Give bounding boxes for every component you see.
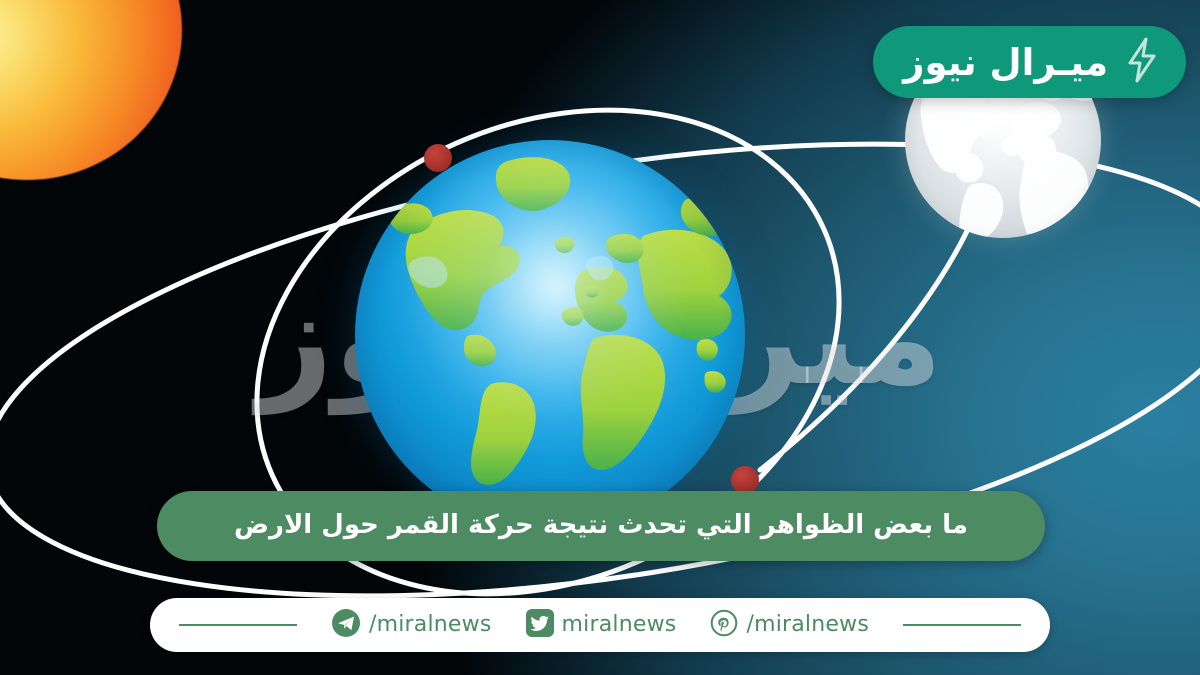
brand-logo-badge[interactable]: ميـرال نيوز: [873, 26, 1186, 98]
pinterest-handle: /miralnews: [746, 614, 869, 636]
headline-banner: ما بعض الظواهر التي تحدث نتيجة حركة القم…: [157, 491, 1045, 561]
telegram-icon: [331, 608, 361, 642]
social-bar: /miralnews miralnews: [150, 598, 1050, 652]
orbit-marker-dot: [731, 466, 759, 494]
social-link-twitter[interactable]: miralnews: [526, 609, 677, 641]
page-title: ما بعض الظواهر التي تحدث نتيجة حركة القم…: [208, 510, 994, 541]
divider-left: [179, 624, 297, 626]
twitter-icon: [526, 609, 554, 641]
telegram-handle: /miralnews: [369, 614, 492, 636]
earth-globe-icon: [355, 140, 745, 530]
divider-right: [903, 624, 1021, 626]
social-link-pinterest[interactable]: /miralnews: [710, 609, 869, 641]
orbit-marker-dot: [424, 144, 452, 172]
social-link-telegram[interactable]: /miralnews: [331, 608, 492, 642]
brand-name: ميـرال نيوز: [903, 44, 1108, 81]
twitter-handle: miralnews: [562, 614, 677, 636]
pinterest-icon: [710, 609, 738, 641]
lightning-bolt-icon: [1124, 37, 1160, 87]
poster-canvas: ميرال نيوز: [0, 0, 1200, 675]
